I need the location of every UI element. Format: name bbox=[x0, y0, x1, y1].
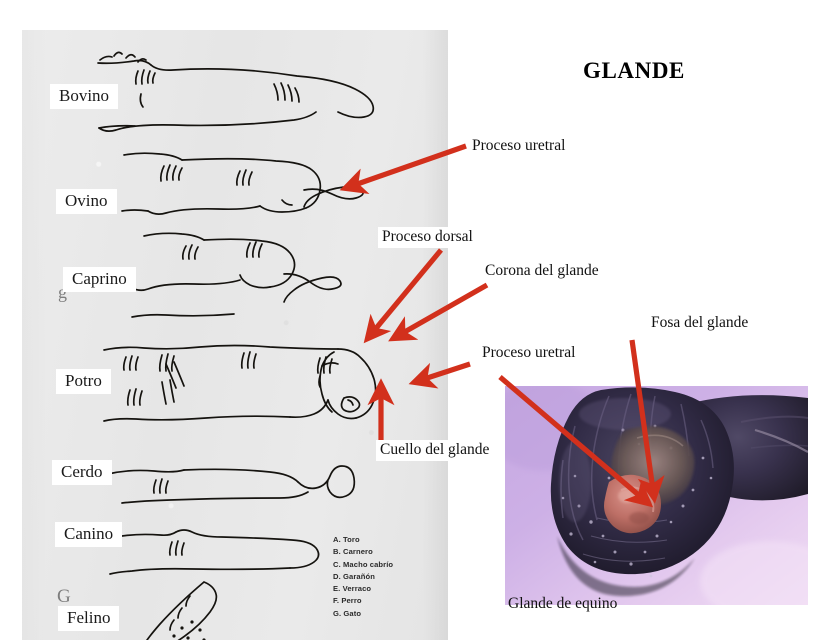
slide-canvas: g G Bovino Ovino Caprino Potro Cerdo Can… bbox=[0, 0, 829, 640]
species-label-ovino: Ovino bbox=[56, 189, 117, 214]
key-item-f: F. Perro bbox=[333, 595, 393, 607]
key-item-d: D. Garañón bbox=[333, 571, 393, 583]
stray-letter-G: G bbox=[57, 586, 71, 608]
key-item-c: C. Macho cabrío bbox=[333, 559, 393, 571]
key-item-e: E. Verraco bbox=[333, 583, 393, 595]
callout-cuello-del-glande: Cuello del glande bbox=[376, 440, 493, 461]
key-item-a: A. Toro bbox=[333, 534, 393, 546]
photo-caption: Glande de equino bbox=[508, 595, 617, 613]
page-title: GLANDE bbox=[583, 58, 685, 84]
species-label-potro: Potro bbox=[56, 369, 111, 394]
species-key-legend: A. Toro B. Carnero C. Macho cabrío D. Ga… bbox=[333, 534, 393, 620]
species-label-felino: Felino bbox=[58, 606, 119, 631]
photo-content bbox=[505, 386, 808, 605]
species-label-bovino: Bovino bbox=[50, 84, 118, 109]
equine-glans-photograph bbox=[505, 386, 808, 605]
key-item-b: B. Carnero bbox=[333, 546, 393, 558]
callout-fosa-del-glande: Fosa del glande bbox=[647, 313, 752, 334]
species-label-cerdo: Cerdo bbox=[52, 460, 112, 485]
callout-proceso-dorsal: Proceso dorsal bbox=[378, 227, 477, 248]
callout-proceso-uretral-ovino: Proceso uretral bbox=[468, 136, 569, 157]
species-label-canino: Canino bbox=[55, 522, 122, 547]
species-label-caprino: Caprino bbox=[63, 267, 136, 292]
callout-proceso-uretral-potro: Proceso uretral bbox=[478, 343, 579, 364]
callout-corona-del-glande: Corona del glande bbox=[481, 261, 603, 282]
key-item-g: G. Gato bbox=[333, 608, 393, 620]
